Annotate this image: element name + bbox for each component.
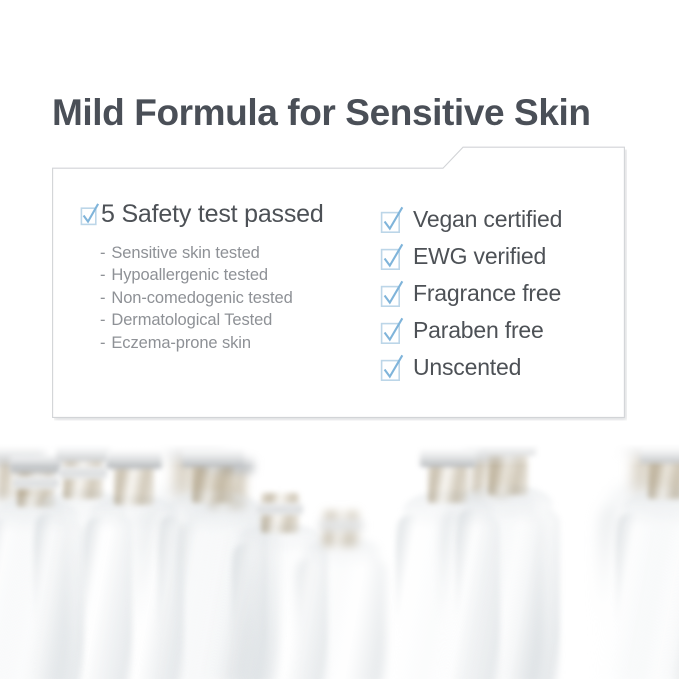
safety-test-list: -Sensitive skin tested -Hypoallergenic t… (100, 242, 380, 354)
bottle (616, 461, 679, 679)
list-item: -Hypoallergenic tested (100, 264, 380, 286)
safety-column: 5 Safety test passed -Sensitive skin tes… (80, 201, 380, 354)
badges-column: Vegan certified EWG verified (380, 201, 620, 386)
checkbox-checked-icon (80, 201, 99, 226)
claims-card: 5 Safety test passed -Sensitive skin tes… (52, 145, 625, 418)
badge-row: Unscented (380, 349, 620, 386)
checkbox-checked-icon (380, 317, 404, 345)
list-item-label: Dermatological Tested (111, 311, 272, 329)
card-content: 5 Safety test passed -Sensitive skin tes… (52, 145, 625, 418)
list-item: -Non-comedogenic tested (100, 287, 380, 309)
badge-label: Vegan certified (413, 208, 562, 231)
badge-label: EWG verified (413, 245, 546, 268)
badge-label: Fragrance free (413, 282, 561, 305)
bottle (296, 519, 386, 679)
bullet-dash: - (100, 266, 105, 284)
list-item-label: Sensitive skin tested (111, 244, 259, 262)
checkbox-checked-icon (380, 354, 404, 382)
bullet-dash: - (100, 244, 105, 262)
badge-row: EWG verified (380, 238, 620, 275)
bullet-dash: - (100, 289, 105, 307)
badge-label: Unscented (413, 356, 521, 379)
badge-label: Paraben free (413, 319, 544, 342)
list-item-label: Eczema-prone skin (111, 334, 251, 352)
checkbox-checked-icon (380, 280, 404, 308)
list-item-label: Non-comedogenic tested (111, 289, 292, 307)
badge-row: Paraben free (380, 312, 620, 349)
bottle (456, 453, 560, 679)
bullet-dash: - (100, 334, 105, 352)
list-item: -Dermatological Tested (100, 309, 380, 331)
clear-glass-bottles-photo (0, 432, 679, 679)
safety-heading-label: 5 Safety test passed (101, 201, 324, 228)
bullet-dash: - (100, 311, 105, 329)
list-item: -Eczema-prone skin (100, 332, 380, 354)
list-item-label: Hypoallergenic tested (111, 266, 268, 284)
badge-row: Fragrance free (380, 275, 620, 312)
list-item: -Sensitive skin tested (100, 242, 380, 264)
checkbox-checked-icon (380, 243, 404, 271)
safety-heading-row: 5 Safety test passed (80, 201, 380, 228)
badge-row: Vegan certified (380, 201, 620, 238)
page-title: Mild Formula for Sensitive Skin (52, 91, 632, 135)
checkbox-checked-icon (380, 206, 404, 234)
